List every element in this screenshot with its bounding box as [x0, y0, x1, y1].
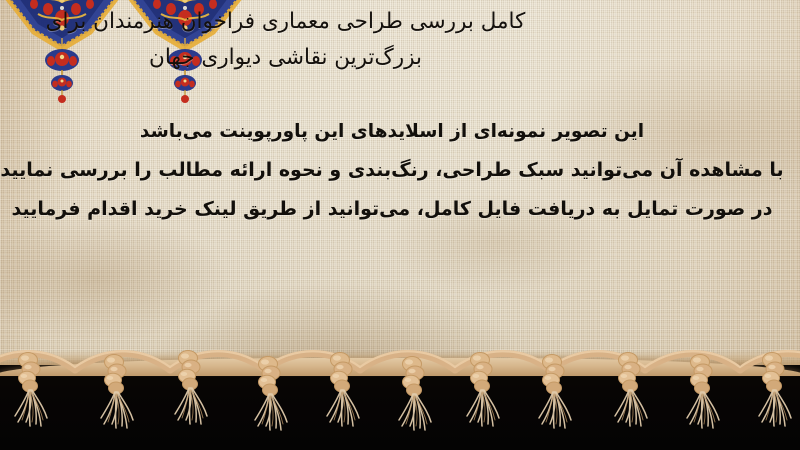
tassel-item — [615, 353, 647, 427]
tassel-item — [399, 357, 431, 431]
tassel-item — [759, 353, 791, 427]
title-line-2: بزرگ‌ترین نقاشی دیواری جهان — [0, 40, 571, 76]
presentation-slide: کامل بررسی طراحی معماری فراخوان هنرمندان… — [0, 0, 800, 450]
tassels-svg — [0, 340, 800, 450]
tassel-item — [175, 351, 207, 425]
slide-title: کامل بررسی طراحی معماری فراخوان هنرمندان… — [0, 4, 786, 76]
tassel-item — [467, 353, 499, 427]
tassel-item — [101, 355, 133, 429]
body-line-3: در صورت تمایل به دریافت فایل کامل، می‌تو… — [0, 190, 784, 229]
body-line-1: این تصویر نمونه‌ای از اسلایدهای این پاور… — [0, 112, 784, 151]
title-line-1: کامل بررسی طراحی معماری فراخوان هنرمندان… — [0, 4, 571, 40]
body-line-2: با مشاهده آن می‌توانید سبک طراحی، رنگ‌بن… — [0, 151, 784, 190]
tassel-item — [539, 355, 571, 429]
slide-body: این تصویر نمونه‌ای از اسلایدهای این پاور… — [0, 112, 784, 229]
tassel-item — [255, 357, 287, 431]
fringe-tassels — [0, 340, 800, 450]
tassel-item — [687, 355, 719, 429]
tassel-item — [15, 353, 47, 427]
